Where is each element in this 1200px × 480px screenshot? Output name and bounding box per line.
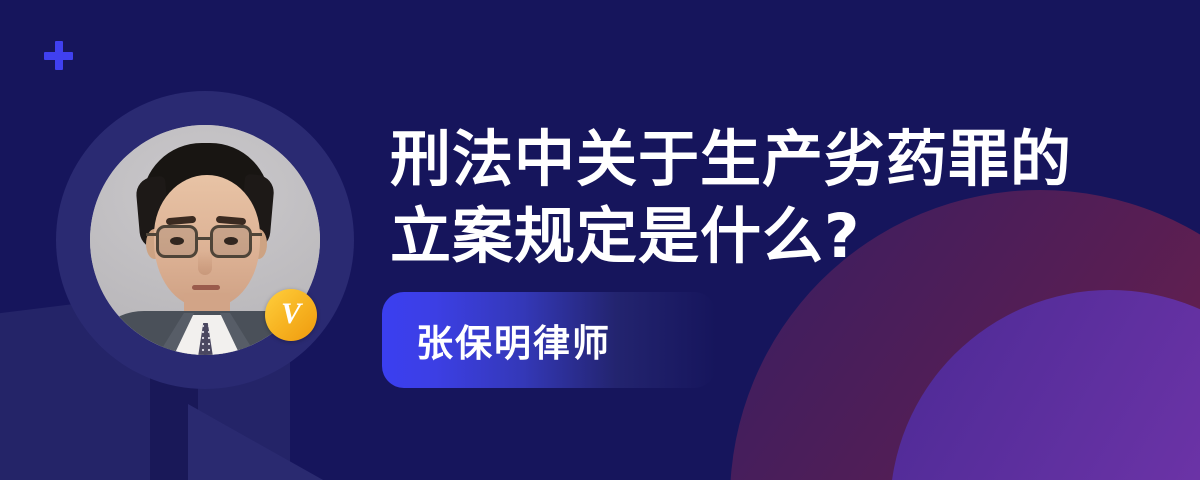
portrait-mouth	[192, 285, 220, 290]
verified-badge-letter: V	[281, 299, 301, 329]
portrait-glasses-lens-right	[210, 225, 252, 258]
plus-icon	[44, 41, 73, 70]
portrait-glasses-lens-left	[156, 225, 198, 258]
author-name: 张保明律师	[416, 313, 611, 367]
avatar: V	[56, 91, 354, 389]
banner-image: V 刑法中关于生产劣药罪的 立案规定是什么? 张保明律师	[0, 0, 1200, 480]
portrait-nose	[198, 251, 212, 275]
page-title: 刑法中关于生产劣药罪的 立案规定是什么?	[390, 122, 1150, 276]
verified-badge-icon: V	[265, 289, 317, 341]
author-badge: 张保明律师	[382, 292, 716, 388]
portrait-glasses-bridge	[197, 237, 211, 240]
text-content: 刑法中关于生产劣药罪的 立案规定是什么?	[390, 122, 1150, 276]
